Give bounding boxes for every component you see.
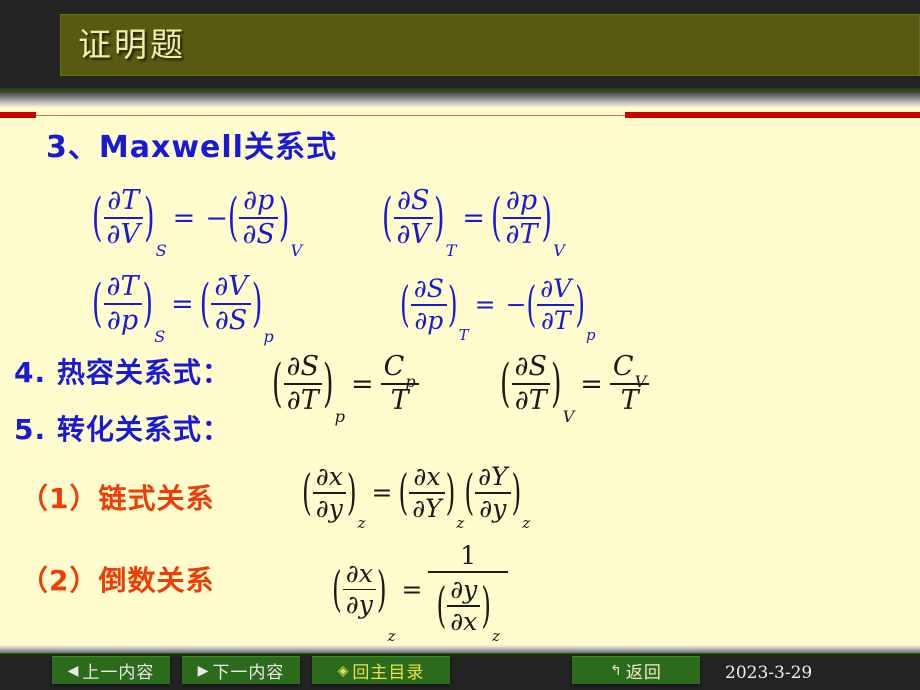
equals-sign: = (366, 480, 399, 505)
slide-date: 2023-3-29 (725, 663, 812, 683)
page-title: 证明题 (78, 18, 186, 66)
fraction-numerator: ∂Y (475, 463, 510, 491)
fraction-numerator: ∂x (410, 463, 443, 491)
subscript: z (491, 629, 500, 644)
fraction: ∂T ∂p (104, 272, 142, 336)
paren-close: ) (481, 582, 491, 630)
fraction-denominator: ∂Y (409, 495, 444, 523)
paren-open: ( (436, 582, 446, 630)
heading-chain-rule: （1）链式关系 (20, 477, 214, 517)
heading-heat-capacity: 4. 热容关系式： (14, 351, 231, 391)
fraction-denominator: ∂T (512, 386, 550, 416)
formula-reciprocal-rule: ( ∂x ∂y ) z = 1 ( ∂y ∂x (332, 543, 508, 636)
paren-open: ( (302, 469, 312, 517)
symbol-C: C (384, 352, 405, 382)
subscript: T (458, 328, 469, 343)
home-menu-label: 回主目录 (352, 658, 424, 683)
subscript: V (552, 243, 565, 259)
fraction-numerator: ∂S (284, 352, 322, 382)
fraction-denominator: ∂y (343, 591, 376, 619)
header-gradient-shadow (0, 91, 920, 108)
minus-sign: − (201, 205, 228, 232)
fraction: ∂S ∂p (411, 275, 447, 335)
fraction: ∂p ∂S (239, 186, 277, 250)
paren-open: ( (382, 192, 393, 243)
title-bar (60, 14, 920, 76)
fraction-numerator: ∂V (537, 275, 574, 303)
back-label: 返回 (626, 658, 662, 683)
fraction-numerator: CV (610, 352, 649, 382)
subscript: V (289, 243, 302, 259)
subscript: p (585, 328, 596, 343)
fraction: ∂T ∂V (104, 186, 143, 250)
paren-close: ) (143, 278, 154, 329)
fraction-denominator: ∂p (104, 306, 141, 336)
subscript: z (357, 516, 366, 531)
formula-maxwell-1: ( ∂T ∂V ) S = − ( ∂p ∂S ) V (92, 186, 302, 250)
heading-maxwell-relations: 3、Maxwell关系式 (46, 122, 337, 166)
paren-open: ( (332, 566, 342, 614)
diamond-icon: ◈ (338, 663, 353, 679)
fraction-bar (428, 571, 508, 573)
equals-sign: = (574, 371, 609, 398)
fraction-denominator: ∂V (394, 220, 433, 250)
formula-heat-capacity-cp: ( ∂S ∂T ) p = Cp T (272, 352, 420, 416)
fraction-numerator: ∂p (503, 186, 540, 216)
fraction-denominator: ∂y (313, 495, 346, 523)
subscript: z (455, 516, 464, 531)
fraction-numerator: ∂p (240, 186, 277, 216)
subscript: S (153, 329, 165, 345)
fraction: ∂V ∂S (211, 272, 250, 336)
equals-sign: = (469, 292, 502, 317)
paren-close: ) (279, 192, 290, 243)
subscript: z (521, 516, 530, 531)
fraction: ∂Y ∂y (475, 463, 510, 523)
heading-conversion: 5. 转化关系式： (14, 408, 231, 448)
fraction: ∂x ∂Y (409, 463, 444, 523)
fraction-denominator: ∂T (538, 307, 574, 335)
formula-chain-rule: ( ∂x ∂y ) z = ( ∂x ∂Y ) z ( ∂Y ∂y ) (302, 463, 530, 523)
equals-sign: = (167, 205, 202, 232)
paren-open: ( (464, 469, 474, 517)
paren-close: ) (434, 192, 445, 243)
fraction: Cp T (381, 352, 419, 416)
heading-reciprocal-rule: （2）倒数关系 (20, 559, 214, 599)
paren-close: ) (144, 192, 155, 243)
paren-open: ( (92, 192, 103, 243)
fraction-denominator: ∂S (239, 220, 277, 250)
header-rule-right-accent (625, 112, 920, 118)
previous-slide-label: 上一内容 (82, 658, 154, 683)
fraction-numerator: ∂y (447, 576, 480, 604)
subscript: V (634, 373, 647, 391)
fraction-numerator: ∂x (313, 463, 346, 491)
paren-open: ( (228, 192, 239, 243)
slide-canvas: 证明题 3、Maxwell关系式 4. 热容关系式： 5. 转化关系式： （1）… (0, 0, 920, 690)
fraction: CV T (610, 352, 649, 416)
subscript: V (562, 409, 575, 425)
equals-sign: = (165, 291, 200, 318)
paren-open: ( (200, 278, 211, 329)
paren-close: ) (347, 469, 357, 517)
header-rule-left-accent (0, 112, 36, 118)
fraction-denominator: ∂T (503, 220, 541, 250)
fraction-denominator: ∂p (411, 307, 446, 335)
fraction: ∂V ∂T (537, 275, 574, 335)
home-menu-button[interactable]: ◈ 回主目录 (312, 656, 450, 684)
formula-maxwell-4: ( ∂S ∂p ) T = − ( ∂V ∂T ) p (400, 275, 596, 335)
fraction-denominator: ∂y (476, 495, 509, 523)
fraction: ∂y ∂x (447, 576, 480, 636)
paren-open: ( (272, 358, 283, 409)
fraction-denominator: ∂V (104, 220, 143, 250)
nested-fraction: 1 ( ∂y ∂x ) z (428, 543, 508, 636)
paren-close: ) (446, 469, 456, 517)
subscript: z (387, 629, 396, 644)
fraction-numerator: ∂S (512, 352, 550, 382)
fraction: ∂p ∂T (503, 186, 541, 250)
fraction-numerator: ∂V (211, 272, 250, 302)
paren-close: ) (252, 278, 263, 329)
subscript: p (262, 329, 273, 345)
paren-close: ) (575, 281, 585, 329)
back-button[interactable]: ↰ 返回 (572, 656, 700, 684)
paren-open: ( (500, 358, 511, 409)
fraction-numerator: ∂S (394, 186, 432, 216)
fraction-numerator: ∂T (104, 272, 142, 302)
paren-open: ( (92, 278, 103, 329)
paren-close: ) (377, 566, 387, 614)
triangle-left-icon: ◀ (68, 663, 83, 679)
paren-close: ) (542, 192, 553, 243)
next-slide-label: 下一内容 (212, 658, 284, 683)
equals-sign: = (396, 577, 429, 602)
paren-open: ( (491, 192, 502, 243)
subscript: S (155, 243, 167, 259)
footer-gradient (0, 645, 920, 653)
next-slide-button[interactable]: ▶ 下一内容 (182, 656, 300, 684)
equals-sign: = (456, 205, 491, 232)
subscript: T (445, 243, 457, 259)
paren-open: ( (398, 469, 408, 517)
fraction: ∂x ∂y (313, 463, 346, 523)
fraction: ∂x ∂y (343, 560, 376, 620)
equals-sign: = (345, 371, 380, 398)
formula-heat-capacity-cv: ( ∂S ∂T ) V = CV T (500, 352, 650, 416)
fraction: ∂S ∂T (512, 352, 550, 416)
formula-maxwell-2: ( ∂S ∂V ) T = ( ∂p ∂T ) V (382, 186, 565, 250)
paren-open: ( (527, 281, 537, 329)
fraction-denominator: ( ∂y ∂x ) z (428, 576, 508, 636)
fraction-numerator: Cp (381, 352, 419, 382)
paren-open: ( (400, 281, 410, 329)
subscript: p (404, 373, 415, 391)
return-arrow-icon: ↰ (610, 663, 626, 679)
fraction-denominator: ∂T (284, 386, 322, 416)
paren-close: ) (551, 358, 562, 409)
paren-close: ) (323, 358, 334, 409)
previous-slide-button[interactable]: ◀ 上一内容 (52, 656, 170, 684)
fraction-denominator: ∂S (212, 306, 250, 336)
fraction-denominator: ∂x (447, 608, 480, 636)
subscript: p (334, 409, 345, 425)
fraction-numerator: ∂x (343, 560, 376, 588)
triangle-right-icon: ▶ (198, 663, 213, 679)
fraction-numerator: ∂T (104, 186, 142, 216)
formula-maxwell-3: ( ∂T ∂p ) S = ( ∂V ∂S ) p (92, 272, 274, 336)
fraction: ∂S ∂V (394, 186, 433, 250)
fraction-numerator: ∂S (411, 275, 447, 303)
paren-close: ) (512, 469, 522, 517)
paren-close: ) (448, 281, 458, 329)
fraction: ∂S ∂T (284, 352, 322, 416)
minus-sign: − (502, 292, 527, 317)
symbol-C: C (613, 352, 634, 382)
fraction-numerator: 1 (452, 543, 484, 568)
